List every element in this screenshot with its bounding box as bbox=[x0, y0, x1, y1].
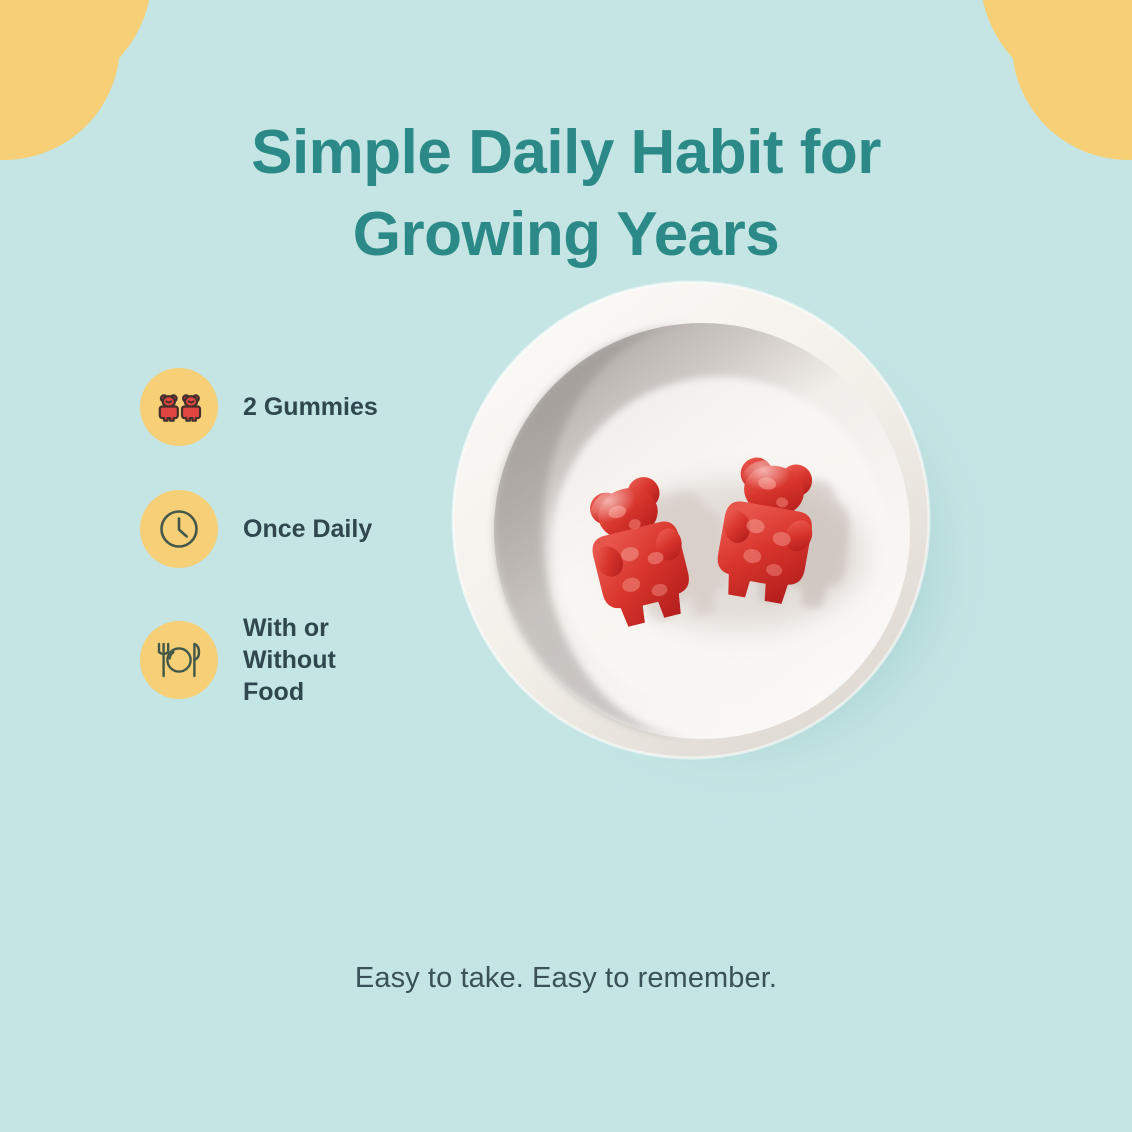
scallop-fill-shape bbox=[1052, 0, 1132, 80]
bowl-with-two-gummy-bears-photo bbox=[420, 255, 1000, 835]
feature-label-food: With or Without Food bbox=[243, 612, 336, 708]
scallop-fill-shape bbox=[0, 0, 80, 80]
feature-item-gummies: 2 Gummies bbox=[140, 368, 440, 446]
feature-label-gummies: 2 Gummies bbox=[243, 391, 378, 423]
clock-icon bbox=[156, 506, 202, 552]
scallop-lobe-right bbox=[0, 0, 152, 98]
page-title-line-1: Simple Daily Habit for bbox=[0, 112, 1132, 194]
feature-icon-badge bbox=[140, 621, 218, 699]
feature-item-food: With or Without Food bbox=[140, 612, 440, 708]
tagline: Easy to take. Easy to remember. bbox=[0, 962, 1132, 995]
gummy-bears-icon bbox=[155, 389, 203, 425]
feature-icon-badge bbox=[140, 490, 218, 568]
scallop-lobe-right bbox=[980, 0, 1132, 98]
promo-poster: Simple Daily Habit for Growing Years bbox=[0, 0, 1132, 1132]
page-title: Simple Daily Habit for Growing Years bbox=[0, 112, 1132, 277]
feature-icon-badge bbox=[140, 368, 218, 446]
fork-plate-knife-icon bbox=[153, 639, 205, 681]
feature-label-frequency: Once Daily bbox=[243, 513, 372, 545]
feature-item-frequency: Once Daily bbox=[140, 490, 440, 568]
feature-list: 2 Gummies Once Daily bbox=[140, 368, 440, 708]
